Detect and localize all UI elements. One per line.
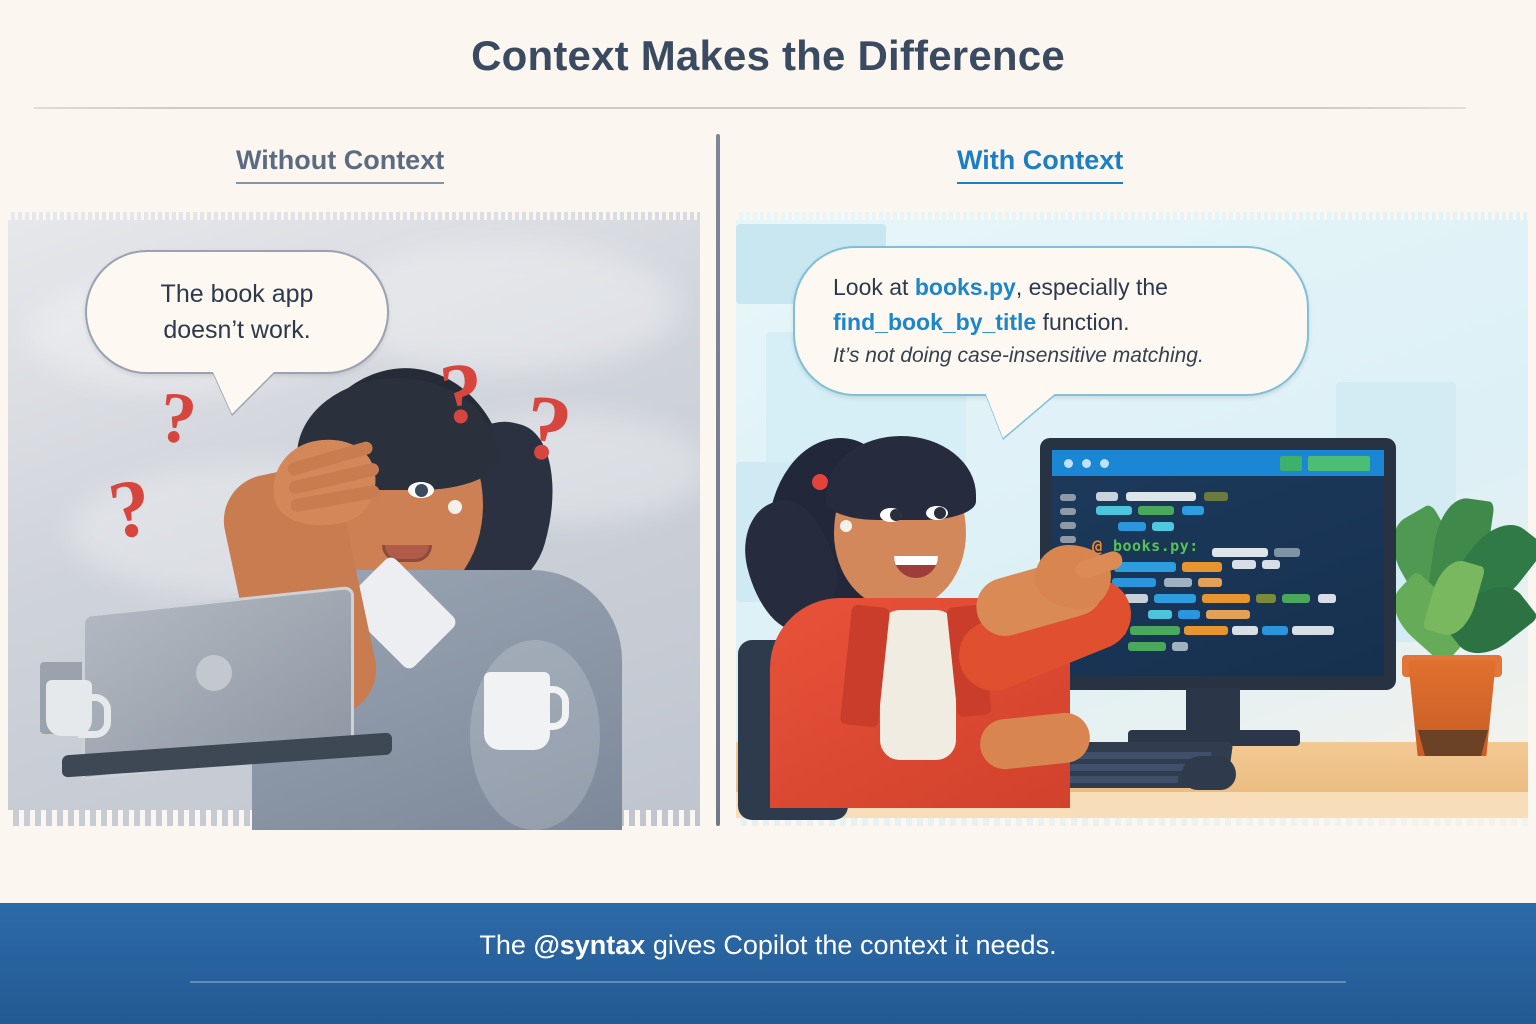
- code-token: [1128, 642, 1166, 651]
- code-token: [1292, 626, 1334, 635]
- panel-top-texture: [8, 212, 700, 220]
- window-dot-icon: [1100, 459, 1109, 468]
- bubble-right-line1-mid: , especially the: [1016, 274, 1168, 300]
- coffee-mug-background: [46, 680, 92, 736]
- code-token: [1112, 578, 1156, 587]
- line-number: [1060, 536, 1076, 543]
- code-token: [1118, 522, 1146, 531]
- bubble-right-line2-post: function.: [1036, 309, 1129, 335]
- teeth: [894, 556, 938, 565]
- code-token: [1274, 548, 1300, 557]
- column-heading-right-label: With Context: [957, 145, 1123, 175]
- code-token: [1172, 642, 1188, 651]
- code-token: [1130, 626, 1180, 635]
- code-token: [1182, 506, 1204, 515]
- code-token: [1282, 594, 1310, 603]
- footer-text: The @syntax gives Copilot the context it…: [0, 930, 1536, 961]
- code-token: [1204, 492, 1228, 501]
- infographic-canvas: Context Makes the Difference Without Con…: [0, 0, 1536, 1024]
- code-token: [1202, 594, 1250, 603]
- speech-bubble-without-context: The book app doesn’t work.: [85, 250, 389, 374]
- code-token: [1114, 562, 1176, 572]
- keyboard-row: [1067, 776, 1178, 783]
- code-token: [1256, 594, 1276, 603]
- editor-file-label: books.py:: [1113, 537, 1199, 555]
- code-token: [1096, 492, 1118, 501]
- bubble-right-line1-pre: Look at: [833, 274, 915, 300]
- plant-pot-base: [1418, 730, 1488, 756]
- code-token: [1096, 506, 1132, 515]
- window-dot-icon: [1064, 459, 1073, 468]
- code-token: [1232, 560, 1256, 569]
- code-token: [1148, 610, 1172, 619]
- question-mark-icon: ?: [436, 348, 486, 437]
- coffee-mug: [484, 672, 550, 750]
- page-title: Context Makes the Difference: [0, 32, 1536, 80]
- pupil-left: [890, 509, 902, 521]
- footer-banner: The @syntax gives Copilot the context it…: [0, 903, 1536, 1024]
- footer-divider: [190, 981, 1346, 983]
- code-token: [1206, 610, 1250, 619]
- code-token: [1154, 594, 1196, 603]
- code-token: [1232, 626, 1258, 635]
- code-token: [1262, 626, 1288, 635]
- code-token: [1262, 560, 1280, 569]
- bubble-right-line-2: find_book_by_title function.: [833, 305, 1283, 340]
- code-token: [1212, 548, 1268, 557]
- line-number: [1060, 494, 1076, 501]
- code-token: [1126, 492, 1196, 501]
- bubble-left-line-1: The book app: [161, 278, 314, 311]
- bubble-right-line-3: It’s not doing case-insensitive matching…: [833, 340, 1283, 372]
- panel-top-texture: [736, 212, 1528, 220]
- earring: [840, 520, 852, 532]
- panel-divider: [716, 134, 720, 826]
- line-number: [1060, 522, 1076, 529]
- column-heading-right-underline: [957, 182, 1123, 184]
- footer-text-pre: The: [479, 930, 533, 960]
- code-token: [1198, 578, 1222, 587]
- question-mark-icon: ?: [156, 380, 199, 455]
- code-token: [1178, 610, 1200, 619]
- footer-text-post: gives Copilot the context it needs.: [645, 930, 1056, 960]
- code-token: [1138, 506, 1174, 515]
- laptop-logo: [196, 655, 232, 691]
- speech-bubble-with-context: Look at books.py, especially the find_bo…: [793, 246, 1309, 396]
- earring: [448, 500, 462, 514]
- editor-tab-indicator: [1280, 456, 1302, 471]
- column-heading-with-context: With Context: [957, 145, 1123, 184]
- code-token: [1164, 578, 1192, 587]
- mug-handle: [78, 694, 111, 738]
- code-token: [1184, 626, 1228, 635]
- pupil-right: [415, 484, 428, 497]
- code-ref-function: find_book_by_title: [833, 309, 1036, 335]
- code-token: [1318, 594, 1336, 603]
- footer-text-syntax: @syntax: [533, 930, 645, 960]
- column-heading-without-context: Without Context: [236, 145, 444, 184]
- column-heading-left-label: Without Context: [236, 145, 444, 175]
- bubble-tail: [212, 370, 276, 414]
- code-ref-books-py: books.py: [915, 274, 1016, 300]
- mouse: [1182, 756, 1236, 790]
- bubble-tail: [985, 392, 1057, 438]
- inner-shirt: [880, 610, 956, 760]
- bubble-left-line-2: doesn’t work.: [163, 314, 310, 347]
- mug-handle: [536, 686, 569, 730]
- background-cloud: [338, 242, 678, 372]
- window-dot-icon: [1082, 459, 1091, 468]
- code-token: [1152, 522, 1174, 531]
- bubble-right-line-1: Look at books.py, especially the: [833, 270, 1283, 305]
- editor-tab-indicator: [1308, 456, 1370, 471]
- line-number: [1060, 508, 1076, 515]
- header-divider: [34, 107, 1466, 109]
- column-heading-left-underline: [236, 182, 444, 184]
- code-token: [1182, 562, 1222, 572]
- pupil-right: [934, 507, 946, 519]
